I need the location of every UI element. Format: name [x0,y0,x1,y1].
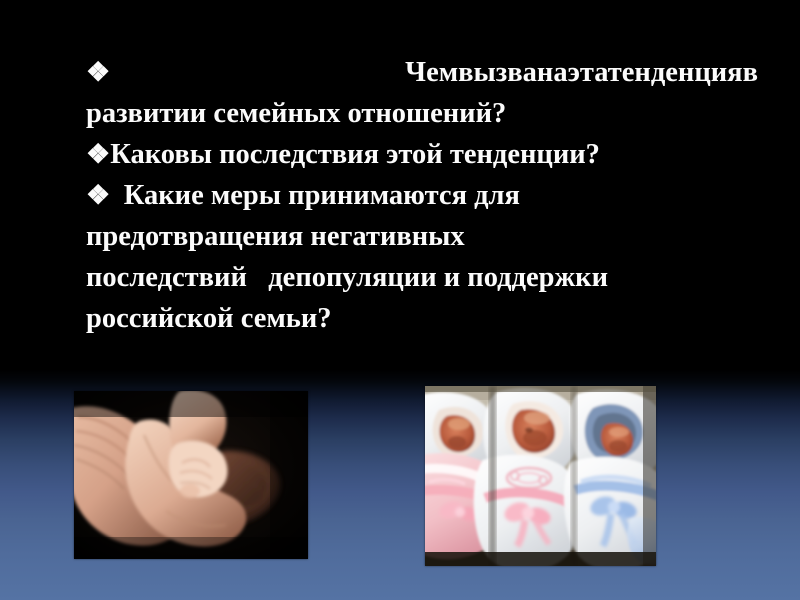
bullet-item-2-text: Каковы последствия этой тенденции? [110,139,600,170]
photo-adult-hands-holding-baby-hand [74,391,308,559]
bullet-diamond-icon-3: ❖ [86,180,124,210]
bullet-item-3: ❖Какие меры принимаются для предотвращен… [86,175,758,339]
bullet-item-2: ❖Каковы последствия этой тенденции? [86,134,758,175]
bullet-item-1-word-5: в [743,57,758,88]
bullet-item-1-line-1: ❖Чемвызванаэтатенденцияв [86,52,758,93]
bullet-item-3-line-2: предотвращения негативных [86,216,758,257]
bullet-item-3-text-1: Какие меры принимаются для [124,180,520,211]
bullet-item-1-word-3: эта [568,57,608,88]
slide-text-block: ❖Чемвызванаэтатенденцияв развитии семейн… [86,52,758,339]
bullet-item-1-word-1: Чем [405,57,458,88]
bullet-item-3-line-1: ❖Какие меры принимаются для [86,175,758,216]
bullet-item-1-word-2: вызвана [458,57,567,88]
bullet-diamond-icon-2: ❖ [86,139,110,169]
bullet-item-1: ❖Чемвызванаэтатенденцияв развитии семейн… [86,52,758,134]
hands-photo-artwork [74,391,308,559]
bullet-item-3-line-3: последствий депопуляции и поддержки [86,257,758,298]
bullet-diamond-icon-1: ❖ [86,57,405,87]
newborns-photo-artwork [425,386,656,566]
photo-three-swaddled-newborns [425,386,656,566]
bullet-item-3-line-4: российской семьи? [86,298,758,339]
bullet-item-1-line-2: развитии семейных отношений? [86,93,758,134]
presentation-slide: ❖Чемвызванаэтатенденцияв развитии семейн… [0,0,800,600]
bullet-item-1-word-4: тенденция [608,57,743,88]
